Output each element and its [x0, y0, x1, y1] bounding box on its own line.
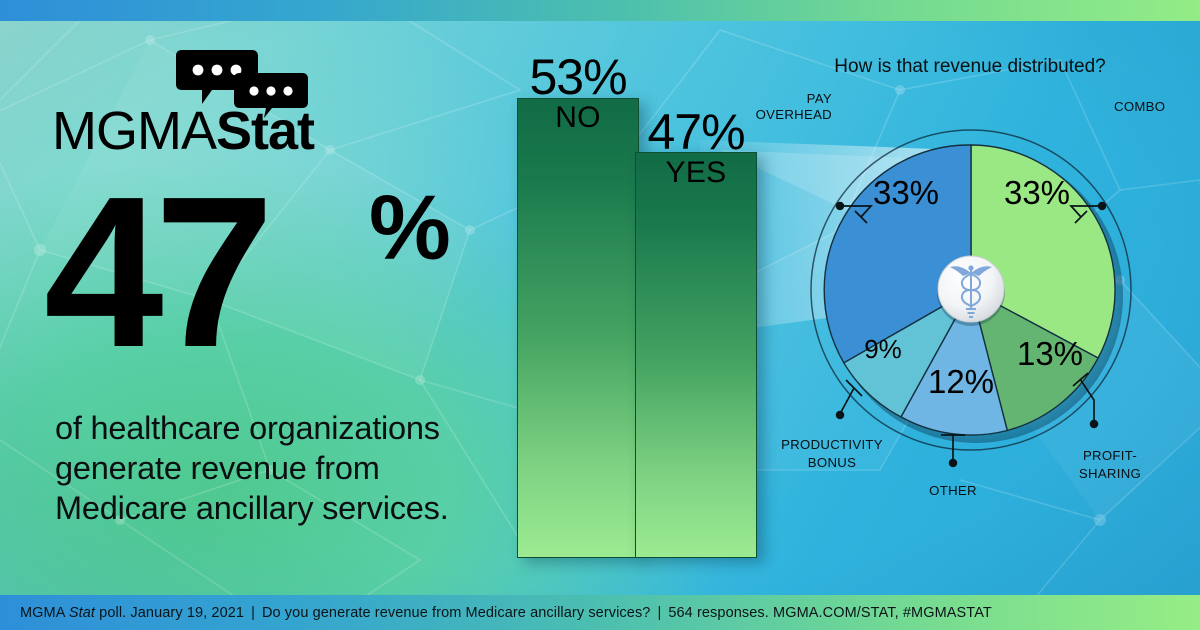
pie-callout-productivity-bonus-line1: PRODUCTIVITY — [781, 437, 883, 452]
bar-no-percent: 53% — [508, 52, 648, 102]
pie-chart: How is that revenue distributed? — [740, 40, 1200, 540]
pie-callout-pay-overhead-line2: OVERHEAD — [756, 107, 832, 122]
headline-blurb: of healthcare organizations generate rev… — [55, 408, 455, 528]
top-accent-bar — [0, 0, 1200, 21]
pie-label-combo-pct: 33% — [1004, 174, 1070, 211]
pie-callout-other: OTHER — [929, 483, 977, 498]
pie-label-pay-overhead-pct: 33% — [873, 174, 939, 211]
pie-label-productivity-bonus-pct: 9% — [864, 334, 902, 364]
headline-statistic: 47 % — [44, 172, 464, 392]
footer-separator-1: | — [244, 605, 262, 621]
footer-poll-suffix: poll. January 19, 2021 — [95, 605, 244, 621]
pie-callout-combo: COMBO — [1114, 99, 1165, 114]
headline-percent-sign: % — [369, 182, 451, 274]
footer-poll-prefix: MGMA — [20, 605, 69, 621]
pie-callout-productivity-bonus-line2: BONUS — [808, 455, 856, 470]
bar-yes — [635, 152, 757, 558]
footer-poll-italic: Stat — [69, 605, 95, 621]
infographic-canvas: MGMAStat 47 % of healthcare organization… — [0, 0, 1200, 630]
footer-responses: 564 responses. MGMA.COM/STAT, #MGMASTAT — [668, 605, 992, 621]
pie-callout-profit-sharing-line2: SHARING — [1079, 466, 1141, 481]
pie-label-profit-sharing-pct: 13% — [1017, 335, 1083, 372]
bar-chart: 53% NO 47% YES — [480, 40, 770, 600]
footer-separator-2: | — [650, 605, 668, 621]
headline-number: 47 — [44, 172, 265, 372]
pie-callout-pay-overhead-line1: PAY — [807, 91, 832, 106]
footer-text: MGMA Stat poll. January 19, 2021|Do you … — [0, 605, 992, 621]
bar-no — [517, 98, 639, 558]
mgma-stat-logo: MGMAStat — [52, 48, 332, 158]
footer-question: Do you generate revenue from Medicare an… — [262, 605, 651, 621]
pie-label-other-pct: 12% — [928, 363, 994, 400]
pie-callout-profit-sharing-line1: PROFIT- — [1083, 448, 1137, 463]
footer-bar: MGMA Stat poll. January 19, 2021|Do you … — [0, 595, 1200, 630]
